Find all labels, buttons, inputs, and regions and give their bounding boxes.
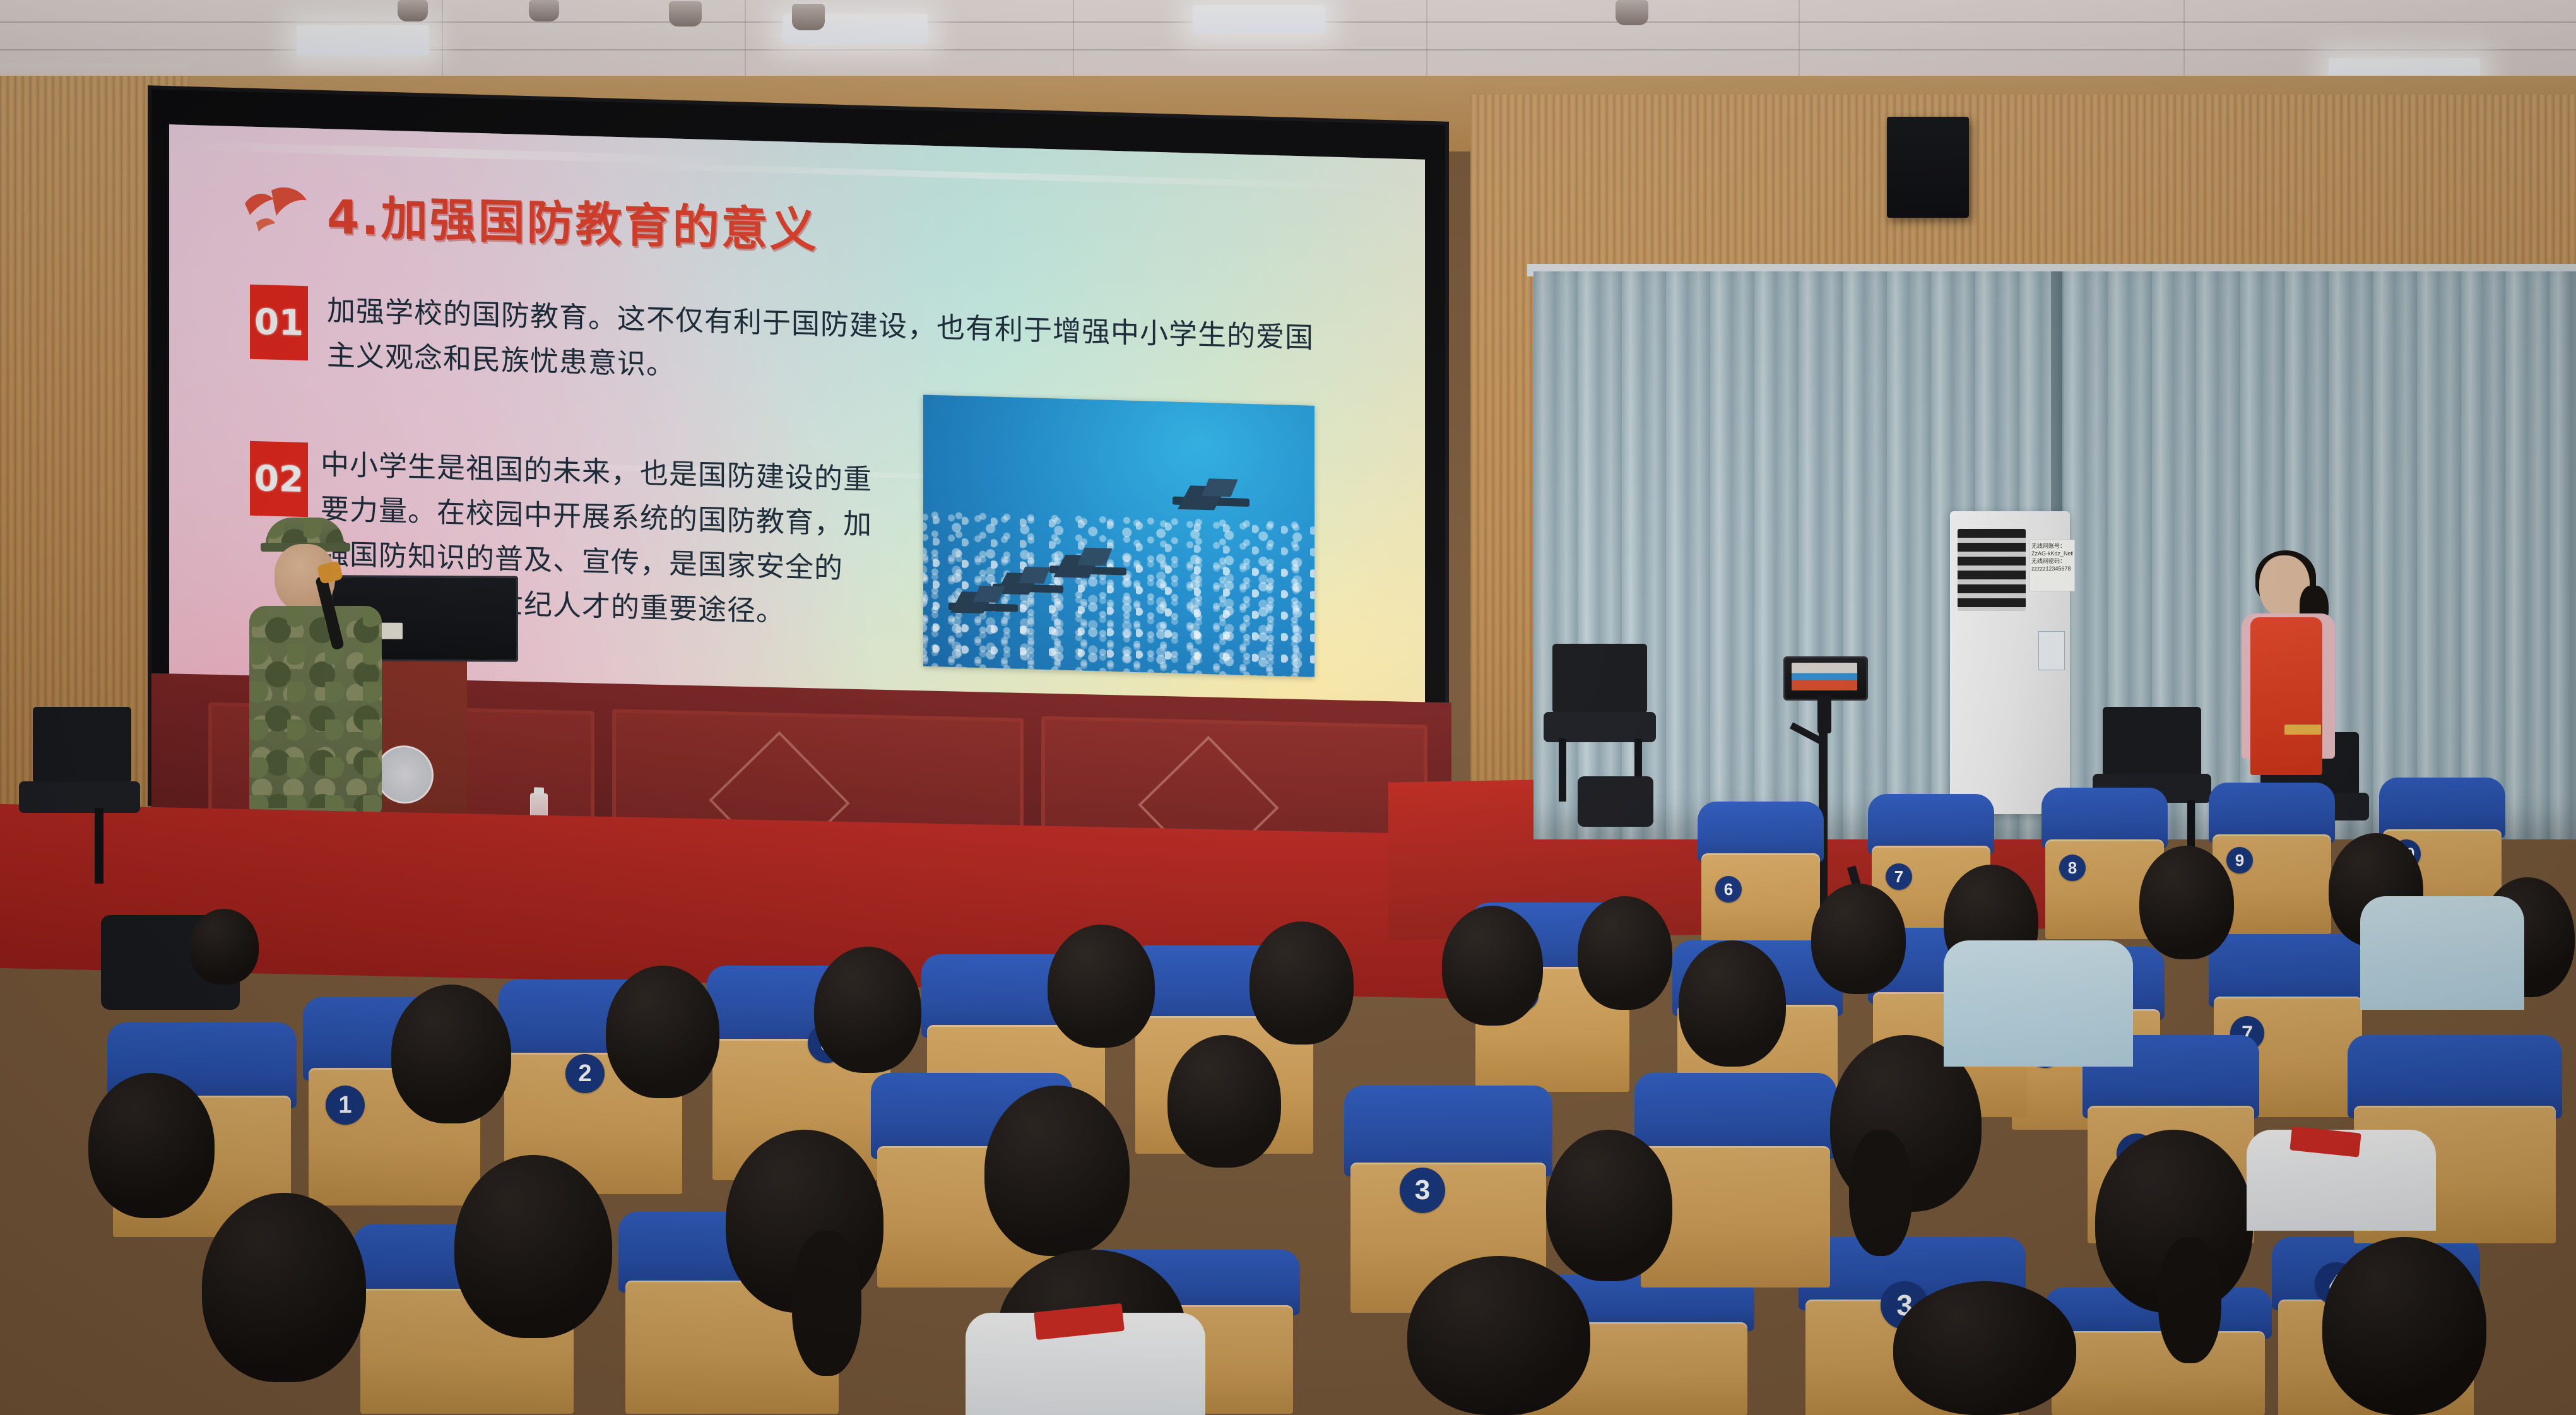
wifi-notice-line: 无线网密码： [2031, 557, 2073, 565]
student-head [2322, 1237, 2486, 1415]
ac-vent-icon [1958, 529, 2026, 611]
student-head [1893, 1281, 2076, 1415]
student-head [189, 909, 259, 985]
student-head [1407, 1256, 1590, 1415]
bullet-badge-02: 02 [250, 441, 308, 518]
seat-number: 8 [2059, 855, 2086, 881]
downlight-icon [792, 4, 825, 30]
seat-number: 7 [1886, 863, 1912, 890]
slide-image-fighter-jets [923, 395, 1315, 677]
auditorium-photo: 4.加强国防教育的意义 01 加强学校的国防教育。这不仅有利于国防建设，也有利于… [0, 0, 2576, 1415]
auditorium-seat[interactable]: 6 [1698, 802, 1824, 953]
downlight-icon [1616, 0, 1648, 25]
wifi-notice: 无线网账号： ZzAG-kKdz_NetboneXX 无线网密码： zzzzz1… [2029, 540, 2075, 591]
seat-number: 3 [1400, 1168, 1445, 1213]
slide-title: 4.加强国防教育的意义 [327, 179, 818, 261]
bullet-badge-01: 01 [250, 285, 308, 361]
seat-number: 1 [326, 1086, 365, 1125]
phone-screen [1792, 663, 1857, 690]
jet-icon [1173, 478, 1255, 524]
student-head [1811, 884, 1906, 994]
student-head [1578, 896, 1672, 1010]
ponytail [792, 1231, 861, 1376]
student-head [1442, 906, 1543, 1026]
doves-icon [239, 170, 333, 242]
student-head [984, 1086, 1130, 1256]
vest-logo [2284, 725, 2321, 735]
wifi-notice-line: ZzAG-kKdz_NetboneXX [2031, 550, 2073, 557]
seat-number: 2 [565, 1054, 605, 1093]
ac-brand-badge [2038, 631, 2065, 670]
student-head [391, 985, 511, 1123]
downlight-icon [669, 1, 702, 27]
student-head [1167, 1035, 1281, 1168]
student-head [1048, 925, 1155, 1048]
student-head [1679, 940, 1786, 1067]
seat-number: 9 [2226, 847, 2253, 873]
student-head [454, 1155, 612, 1338]
speaker-torso [249, 606, 382, 814]
bag [1578, 776, 1653, 827]
jet-icon [948, 585, 1024, 629]
ceiling-light [297, 25, 429, 56]
wall-speaker-icon [1887, 117, 1969, 218]
recording-phone [1783, 656, 1868, 701]
student-head [1250, 921, 1354, 1045]
student-head [2139, 846, 2234, 959]
wifi-notice-line: zzzzz12345678 [2031, 565, 2073, 572]
downlight-icon [398, 0, 428, 21]
air-conditioner: 无线网账号： ZzAG-kKdz_NetboneXX 无线网密码： zzzzz1… [1950, 511, 2070, 814]
seat-number: 6 [1715, 876, 1742, 903]
ponytail [1849, 1130, 1912, 1256]
downlight-icon [529, 0, 559, 21]
office-chair [19, 707, 145, 884]
ponytail [2158, 1237, 2221, 1363]
student-head [606, 966, 719, 1098]
ceiling-light [1193, 5, 1325, 33]
student-head [814, 947, 921, 1073]
bullet-text-01: 加强学校的国防教育。这不仅有利于国防建设，也有利于增强中小学生的爱国主义观念和民… [327, 288, 1330, 406]
red-volunteer-vest [2250, 617, 2322, 775]
student-uniform [2360, 896, 2524, 1010]
wifi-notice-line: 无线网账号： [2031, 542, 2073, 550]
student-head [1546, 1130, 1672, 1281]
student-head [88, 1073, 215, 1218]
student-head [202, 1193, 366, 1382]
student-uniform [1944, 940, 2133, 1067]
